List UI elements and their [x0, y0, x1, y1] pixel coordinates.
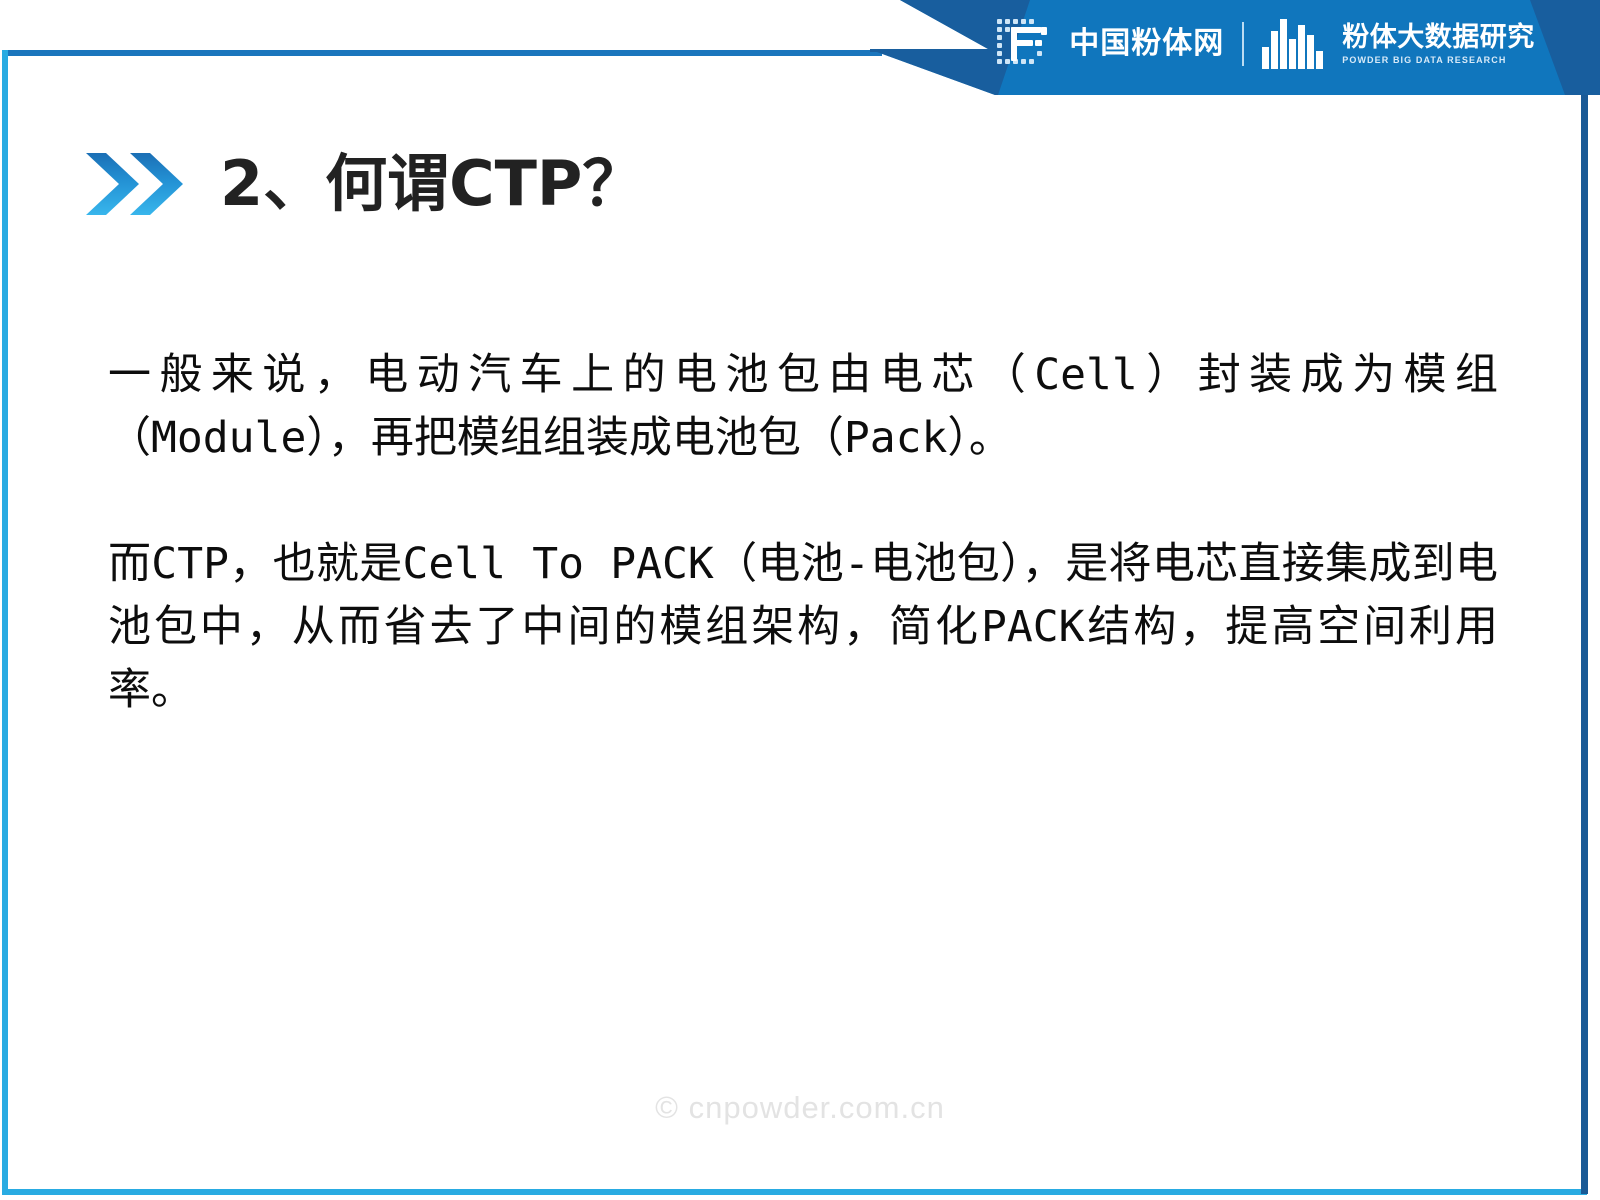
brand-banner: 中国粉体网 粉体大数据研究 POWDER BIG DATA RESEARCH [870, 0, 1600, 95]
brand-name-research-en: POWDER BIG DATA RESEARCH [1342, 56, 1535, 65]
paragraph-2: 而CTP，也就是Cell To PACK（电池-电池包），是将电芯直接集成到电池… [108, 533, 1498, 722]
brand-name-right-group: 粉体大数据研究 POWDER BIG DATA RESEARCH [1342, 24, 1535, 65]
frame-left-border [2, 50, 8, 1195]
watermark: © cnpowder.com.cn [0, 1090, 1600, 1126]
slide-canvas: 中国粉体网 粉体大数据研究 POWDER BIG DATA RESEARCH [0, 0, 1600, 1200]
double-chevron-icon [84, 151, 184, 217]
bar-chart-logo-icon [1262, 19, 1324, 69]
body-copy: 一般来说，电动汽车上的电池包由电芯（Cell）封装成为模组（Module），再把… [108, 344, 1498, 722]
banner-divider [1242, 22, 1244, 66]
frame-top-border [2, 50, 882, 56]
paragraph-1: 一般来说，电动汽车上的电池包由电芯（Cell）封装成为模组（Module），再把… [108, 344, 1498, 470]
brand-name-cn: 中国粉体网 [1069, 29, 1224, 59]
banner-content: 中国粉体网 粉体大数据研究 POWDER BIG DATA RESEARCH [870, 0, 1600, 88]
frame-right-border [1581, 57, 1588, 1194]
page-title: 2、何谓CTP？ [220, 153, 644, 215]
frame-bottom-border [2, 1189, 1587, 1195]
brand-name-research: 粉体大数据研究 [1342, 24, 1535, 51]
pixel-f-logo-icon [995, 17, 1051, 71]
title-row: 2、何谓CTP？ [84, 138, 644, 230]
